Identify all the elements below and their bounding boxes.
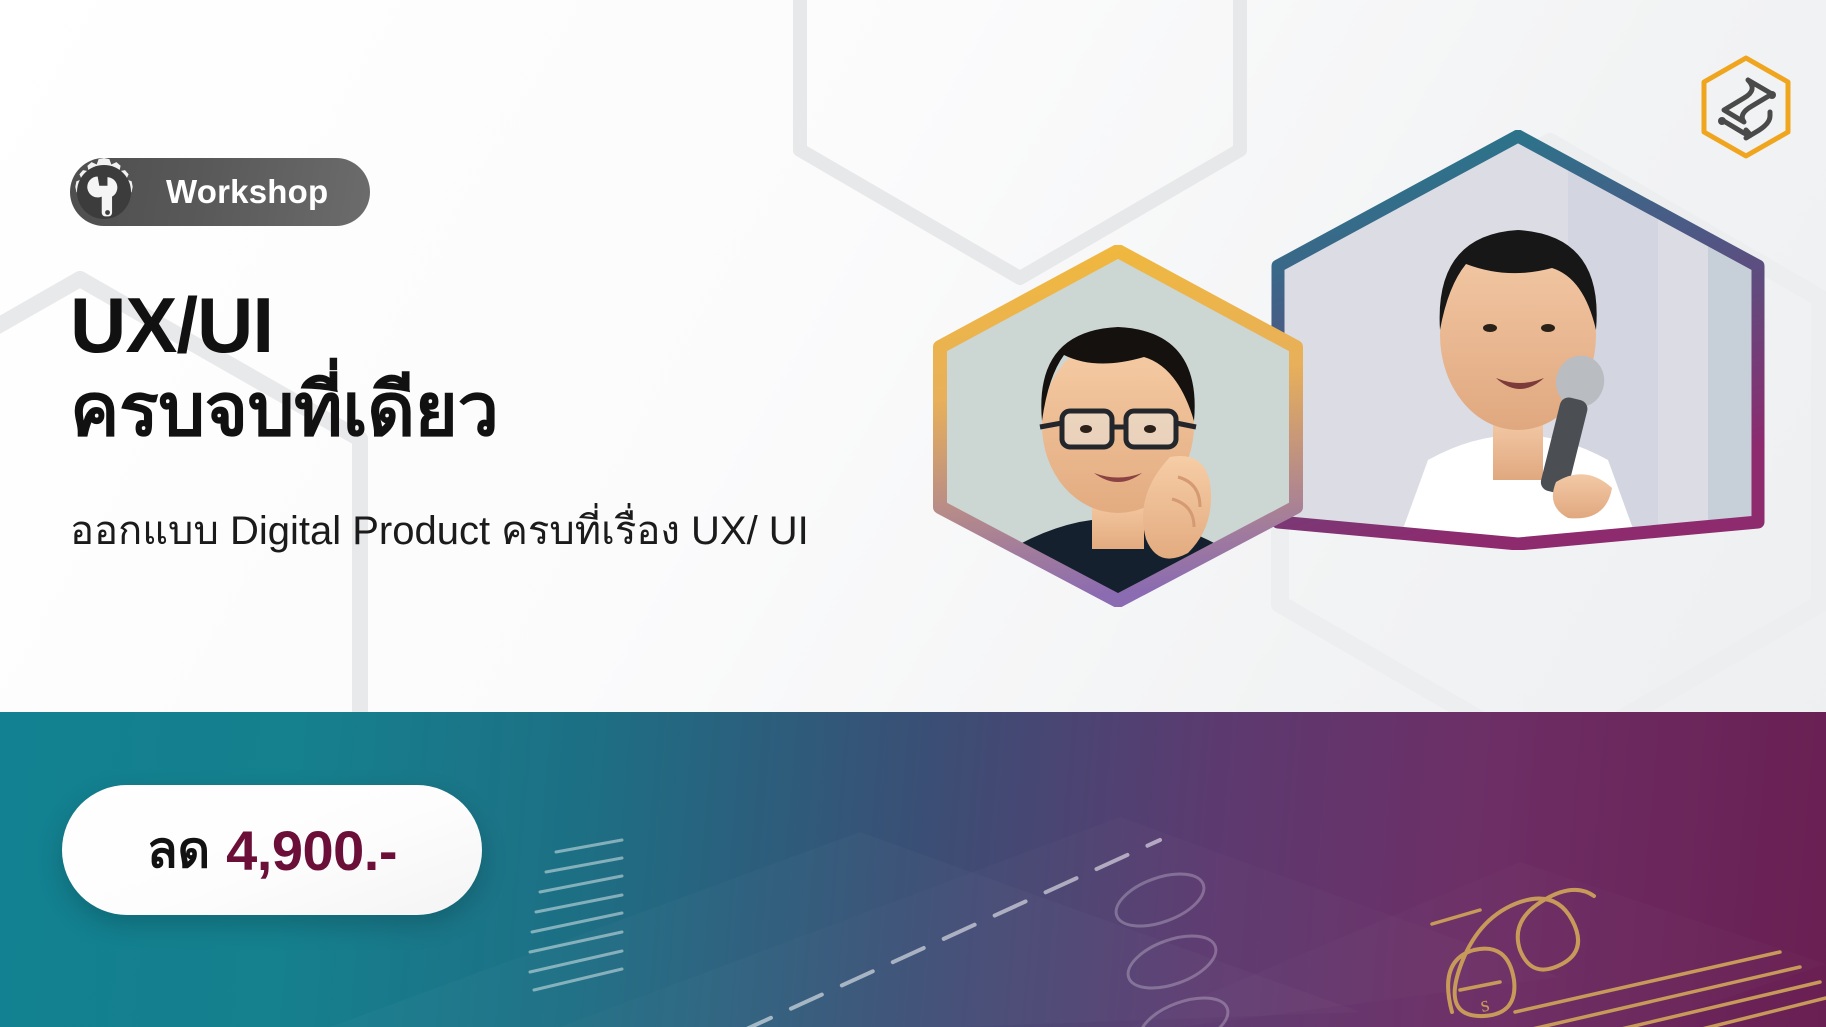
speaker-back-photo [1238,130,1798,550]
page-title: UX/UI ครบจบที่เดียว [70,286,499,447]
headline-line-2: ครบจบที่เดียว [70,372,499,447]
subtitle: ออกแบบ Digital Product ครบที่เรื่อง UX/ … [70,498,809,562]
discount-amount: 4,900.- [226,818,397,883]
workshop-badge-label: Workshop [166,173,328,211]
speaker-front-photo [922,245,1314,607]
discount-badge[interactable]: ลด 4,900.- [62,785,482,915]
stacked-layers-logo[interactable] [1694,52,1798,162]
gear-wrench-icon [66,154,142,230]
promo-banner: Workshop UX/UI ครบจบที่เดียว ออกแบบ Digi… [0,0,1826,1027]
discount-label: ลด [147,811,210,890]
headline-line-1: UX/UI [70,286,499,366]
workshop-badge[interactable]: Workshop [70,158,370,226]
